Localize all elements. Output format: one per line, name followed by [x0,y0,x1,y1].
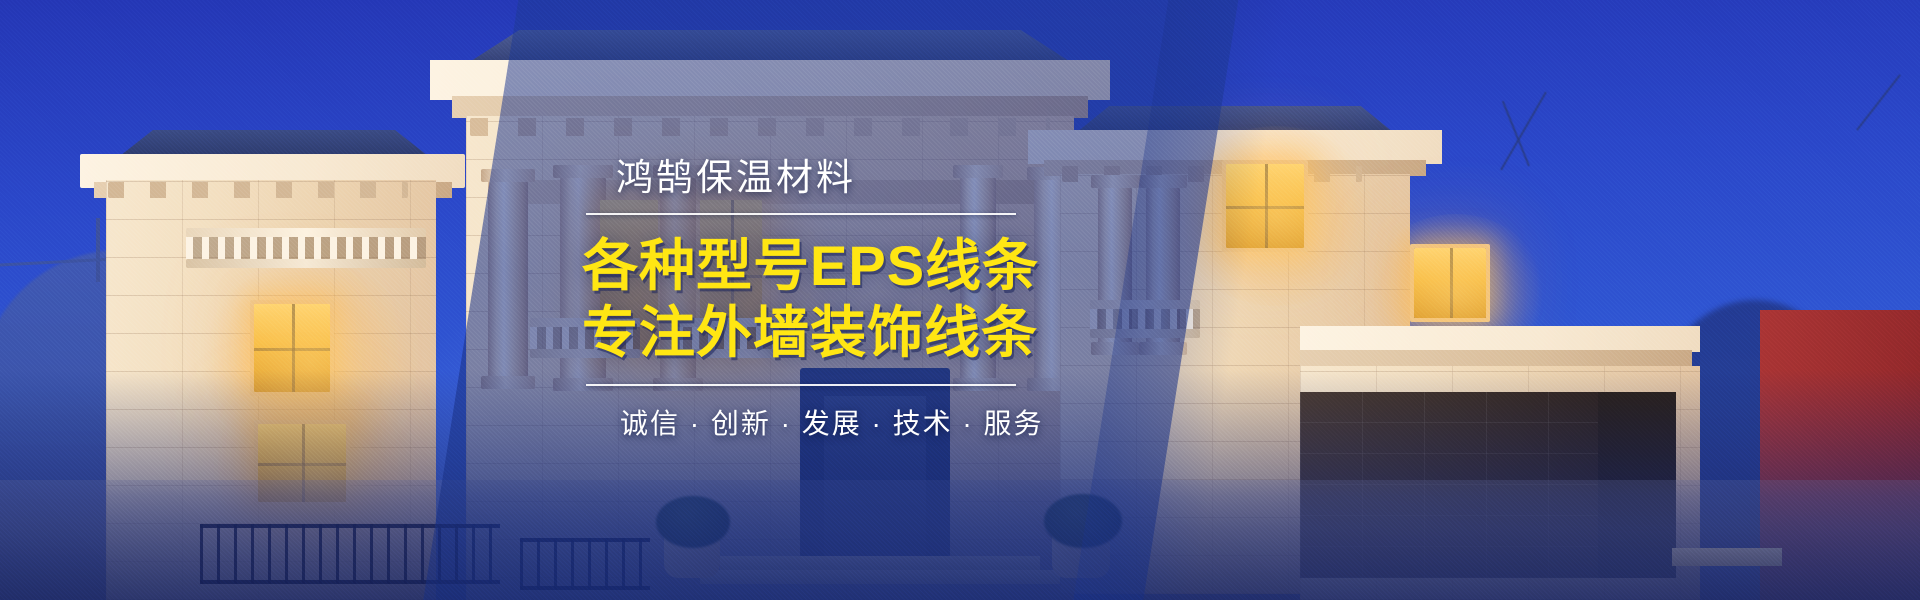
divider-top [586,213,1016,215]
headline-line-2: 专注外墙装饰线条 [582,300,1038,366]
divider-bottom [586,384,1016,386]
hero-banner: 鸿鹄保温材料 各种型号EPS线条 专注外墙装饰线条 诚信 · 创新 · 发展 ·… [0,0,1920,600]
tagline: 诚信 · 创新 · 发展 · 技术 · 服务 [620,402,1044,442]
brand-name: 鸿鹄保温材料 [616,158,856,199]
banner-copy: 鸿鹄保温材料 各种型号EPS线条 专注外墙装饰线条 诚信 · 创新 · 发展 ·… [0,0,1920,600]
headline-line-1: 各种型号EPS线条 [582,233,1039,299]
